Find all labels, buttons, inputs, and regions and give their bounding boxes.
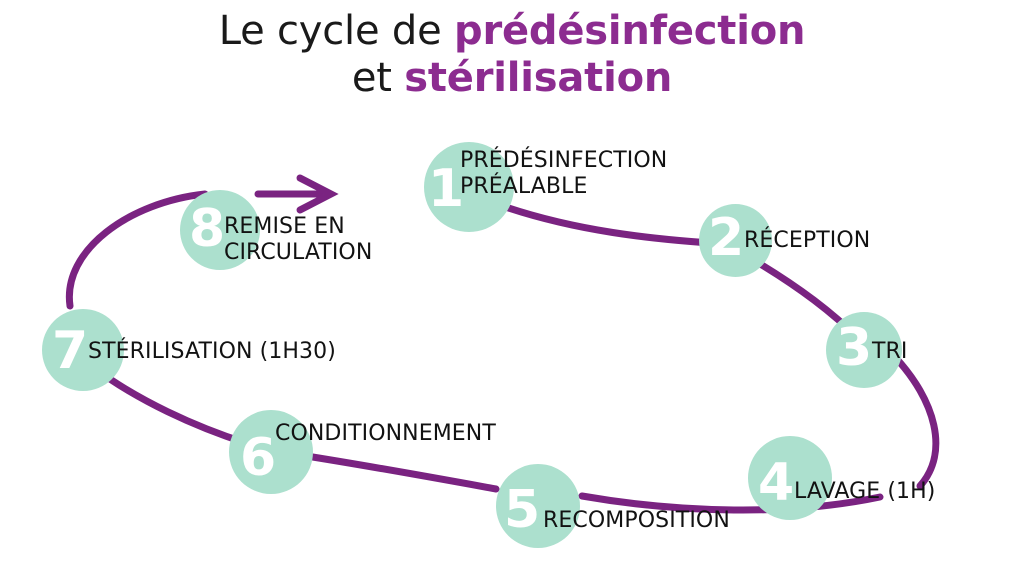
cycle-diagram: 1 PRÉDÉSINFECTION PRÉALABLE 2 RÉCEPTION …	[0, 0, 1024, 576]
cycle-node-5-number: 5	[504, 484, 539, 536]
connector-6-7	[104, 375, 246, 443]
connector-3-4	[895, 357, 936, 486]
connector-5-6	[300, 455, 496, 489]
cycle-node-3-number: 3	[836, 322, 871, 374]
cycle-node-3-label: TRI	[872, 339, 908, 365]
cycle-node-6-label: CONDITIONNEMENT	[275, 421, 496, 447]
cycle-node-7-label: STÉRILISATION (1H30)	[88, 339, 336, 365]
cycle-node-4-number: 4	[758, 457, 793, 509]
cycle-node-5-label: RECOMPOSITION	[543, 508, 730, 534]
cycle-node-2-label: RÉCEPTION	[744, 228, 870, 254]
connector-1-2	[486, 200, 726, 244]
cycle-node-8-label: REMISE EN CIRCULATION	[224, 214, 372, 266]
cycle-node-1-number: 1	[428, 163, 463, 215]
infographic-canvas: Le cycle de prédésinfection et stérilisa…	[0, 0, 1024, 576]
cycle-node-4-label: LAVAGE (1H)	[794, 479, 935, 505]
cycle-node-1-label: PRÉDÉSINFECTION PRÉALABLE	[460, 148, 667, 200]
cycle-node-8-number: 8	[189, 203, 224, 255]
cycle-node-2-number: 2	[708, 212, 743, 264]
cycle-node-7-number: 7	[52, 325, 87, 377]
cycle-node-6-number: 6	[240, 432, 275, 484]
